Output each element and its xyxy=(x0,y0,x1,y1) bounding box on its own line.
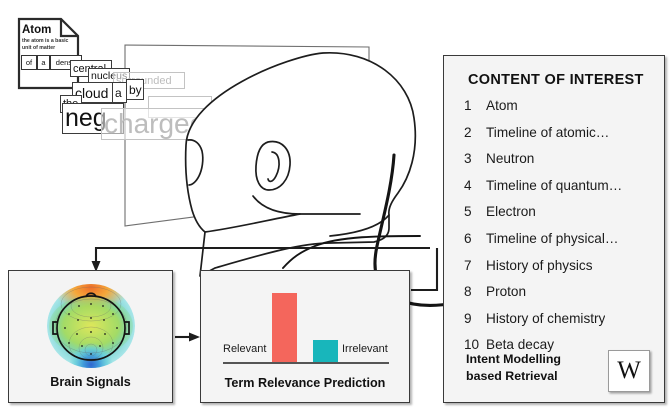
term-relevance-caption: Term Relevance Prediction xyxy=(201,376,409,390)
content-panel-footer: Intent Modelling based Retrieval xyxy=(466,351,606,384)
footer-line-1: Intent Modelling xyxy=(466,351,606,368)
bar-label-relevant: Relevant xyxy=(223,343,266,355)
brain-signals-caption: Brain Signals xyxy=(9,375,172,389)
item-label: Timeline of quantum… xyxy=(486,178,622,193)
item-label: History of chemistry xyxy=(486,311,605,326)
term-relevance-panel: Relevant Irrelevant Term Relevance Predi… xyxy=(200,270,410,403)
wikipedia-logo[interactable]: W xyxy=(608,350,650,392)
signal-cable xyxy=(283,236,420,268)
list-item[interactable]: 3 Neutron xyxy=(464,151,664,178)
content-of-interest-panel: CONTENT OF INTEREST 1 Atom 2 Timeline of… xyxy=(443,55,665,403)
list-item[interactable]: 5 Electron xyxy=(464,204,664,231)
list-item[interactable]: 1 Atom xyxy=(464,98,664,125)
item-label: Timeline of physical… xyxy=(486,231,618,246)
item-label: Proton xyxy=(486,284,526,299)
brain-signals-panel: Brain Signals xyxy=(8,270,173,403)
word-card-a: a xyxy=(112,82,127,103)
footer-line-2: based Retrieval xyxy=(466,368,606,385)
document-subtitle: the atom is a basic unit of matter xyxy=(22,38,70,52)
bar-relevant xyxy=(272,293,297,362)
bar-irrelevant xyxy=(313,340,338,362)
item-number: 3 xyxy=(464,151,486,166)
bar-label-irrelevant: Irrelevant xyxy=(342,343,388,355)
list-item[interactable]: 8 Proton xyxy=(464,284,664,311)
document-chip-of: of xyxy=(21,55,37,70)
list-item[interactable]: 9 History of chemistry xyxy=(464,311,664,338)
item-number: 8 xyxy=(464,284,486,299)
item-number: 7 xyxy=(464,258,486,273)
eeg-topographic-map xyxy=(38,280,144,372)
list-item[interactable]: 6 Timeline of physical… xyxy=(464,231,664,258)
item-label: Neutron xyxy=(486,151,534,166)
document-chip-a: a xyxy=(37,55,50,70)
word-card-electrons: electrons xyxy=(192,106,327,144)
item-number: 4 xyxy=(464,178,486,193)
item-label: Timeline of atomic… xyxy=(486,125,609,140)
list-item[interactable]: 4 Timeline of quantum… xyxy=(464,178,664,205)
content-panel-title: CONTENT OF INTEREST xyxy=(468,72,644,88)
word-card-by: by xyxy=(126,79,144,100)
item-number: 9 xyxy=(464,311,486,326)
connector-right-elbow xyxy=(411,248,437,290)
item-label: History of physics xyxy=(486,258,593,273)
relevance-bar-chart: Relevant Irrelevant xyxy=(201,277,409,365)
document-title: Atom xyxy=(22,24,51,36)
chart-baseline xyxy=(223,362,389,364)
item-number: 6 xyxy=(464,231,486,246)
item-number: 2 xyxy=(464,125,486,140)
item-number: 5 xyxy=(464,204,486,219)
list-item[interactable]: 2 Timeline of atomic… xyxy=(464,125,664,152)
arrow-brain-to-term xyxy=(175,333,200,342)
arrow-subject-to-brain xyxy=(92,248,431,272)
list-item[interactable]: 7 History of physics xyxy=(464,258,664,285)
word-card-charged: charged xyxy=(101,108,205,140)
item-label: Electron xyxy=(486,204,536,219)
figure-canvas: Atom the atom is a basic unit of matter … xyxy=(0,0,670,418)
item-label: Atom xyxy=(486,98,518,113)
content-of-interest-list: 1 Atom 2 Timeline of atomic… 3 Neutron 4… xyxy=(464,98,664,364)
item-number: 1 xyxy=(464,98,486,113)
